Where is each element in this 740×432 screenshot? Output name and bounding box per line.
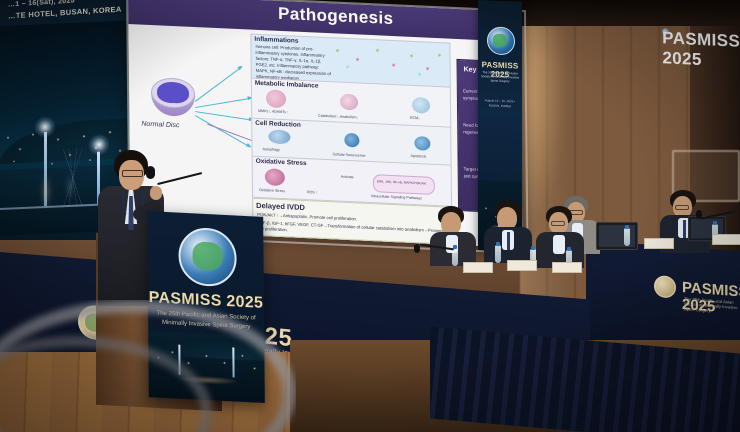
mitochondria-icon: [265, 168, 285, 186]
microphone-head-front: [414, 244, 420, 253]
conference-photo: …1 – 16(Sat), 2025 …TE HOTEL, BUSAN, KOR…: [0, 0, 740, 432]
cytokine-dots-graphic: [329, 44, 444, 79]
panelist-shirt: [553, 235, 565, 254]
apoptosis-icon: [414, 136, 430, 151]
cell-caption-3: Apoptosis: [411, 154, 427, 159]
microphone-head-back: [696, 210, 702, 219]
banner-globe-logo-icon: [487, 26, 515, 55]
section-heading-delayed-ivdd: Delayed IVDD: [256, 201, 305, 212]
table-back-logo-icon: [654, 275, 676, 299]
section-heading-oxidative: Oxidative Stress: [256, 158, 307, 167]
speaker-hand: [150, 186, 162, 200]
speaker-glasses-icon: [122, 170, 143, 177]
slide-title-text: Pathogenesis: [278, 4, 394, 29]
disc-nucleus: [157, 81, 189, 103]
vertical-banner-date-venue: August 14 – 16, 2025 • BUSAN, KOREA: [480, 98, 520, 109]
nameplate-front-2: [507, 260, 537, 271]
arrow-to-inflammations: [195, 66, 243, 102]
metabolic-cell-icon-2: [340, 94, 358, 111]
metabolic-caption-2: Catabolism↑, Anabolism↓: [318, 114, 358, 120]
section-heading-cell-reduction: Cell Reduction: [255, 120, 301, 129]
autophagy-icon: [268, 129, 290, 144]
oxidative-caption-activate: Activate: [341, 175, 354, 180]
panelist-glasses-icon: [551, 221, 565, 226]
standee-globe-logo-icon: [178, 227, 237, 288]
arrow-to-metabolic: [195, 98, 252, 108]
metabolic-cell-icon-3: [412, 97, 430, 114]
cell-caption-2: Cellular Senescence: [333, 152, 366, 158]
bridge-light-flare-left: [34, 116, 56, 139]
panelist-tie: [683, 220, 686, 238]
oxidative-caption-1: Oxidative Stress: [259, 188, 285, 193]
metabolic-cell-icon-1: [266, 89, 286, 108]
water-bottle-front-2[interactable]: [495, 245, 501, 263]
panelist-front-3: [536, 206, 586, 266]
water-bottle-front-1[interactable]: [452, 248, 458, 266]
nameplate-front-1: [463, 262, 493, 273]
cell-caption-1: Autophagy: [263, 147, 280, 152]
arrow-to-oxidative: [195, 115, 251, 147]
nameplate-back-1: [644, 238, 674, 249]
section-heading-metabolic: Metabolic Imbalance: [255, 80, 319, 90]
water-bottle-back-1[interactable]: [624, 228, 630, 246]
panelist-front-2: [484, 200, 534, 262]
oxidative-caption-signaling: Intracellular Signaling Pathways: [371, 194, 422, 200]
normal-disc-label: Normal Disc: [141, 121, 179, 130]
nameplate-back-2: [712, 234, 740, 245]
panelist-glasses-icon: [675, 205, 689, 210]
laptop-lid: [596, 222, 638, 250]
nameplate-front-3: [552, 262, 582, 273]
metabolic-caption-3: ECM↓: [410, 116, 420, 120]
oxidative-caption-2: ROS ↑: [307, 190, 318, 194]
podium-microphone-head: [146, 166, 155, 179]
vertical-banner-subtitle: The 25th Pacific and Asian Society of Mi…: [480, 70, 520, 84]
panelist-tie: [507, 232, 510, 250]
metabolic-caption-1: MMPs↑, ADAMTs ↑: [258, 109, 289, 114]
senescence-icon: [344, 133, 359, 148]
